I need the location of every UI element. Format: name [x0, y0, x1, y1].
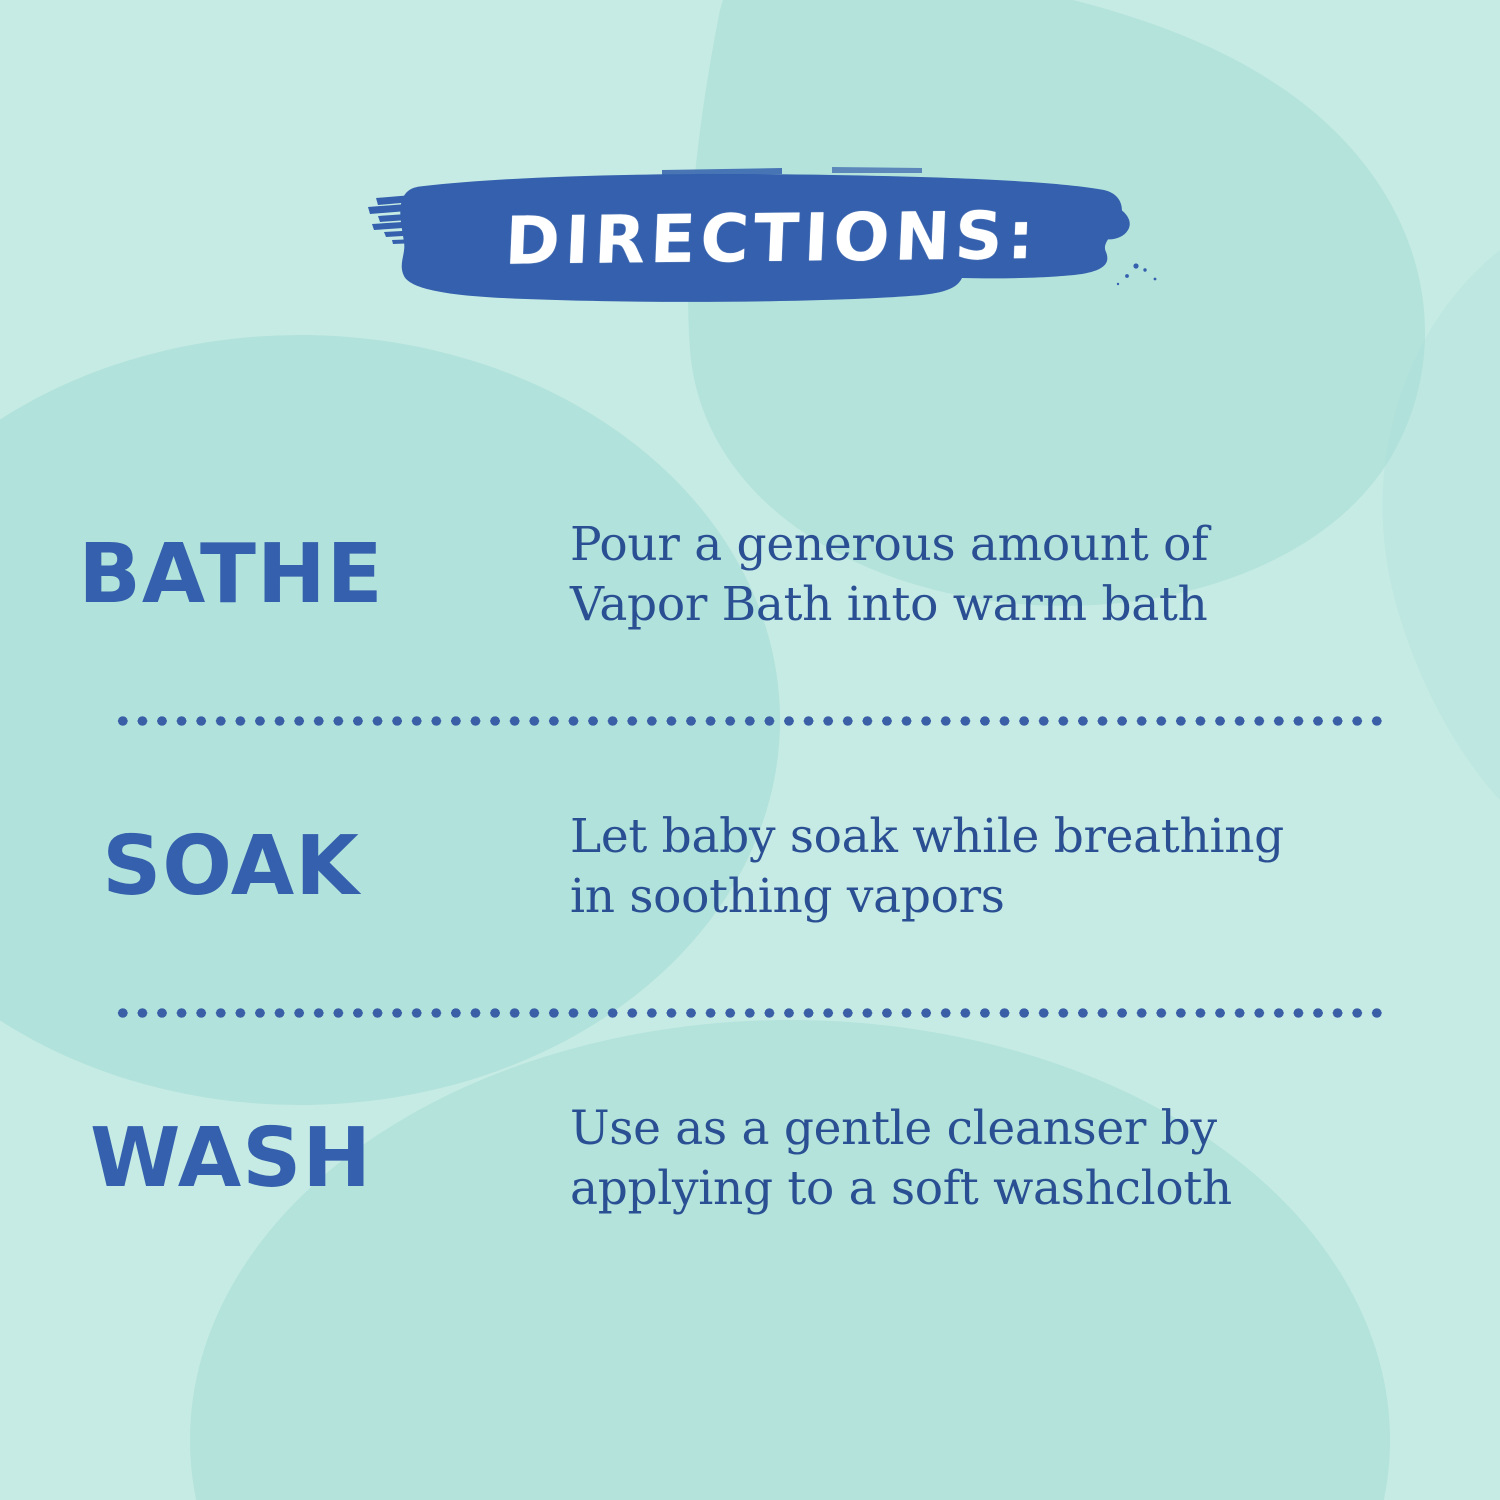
- step-description-line: Use as a gentle cleanser by: [570, 1099, 1430, 1159]
- step-description-line: Pour a generous amount of: [570, 515, 1430, 575]
- step-label-wash: WASH: [0, 1118, 470, 1200]
- step-row-soak: SOAK Let baby soak while breathing in so…: [0, 722, 1500, 1012]
- step-description-bathe: Pour a generous amount of Vapor Bath int…: [470, 515, 1500, 635]
- step-label-soak: SOAK: [0, 826, 470, 908]
- directions-infographic: DIRECTIONS: BATHE Pour a generous amount…: [0, 0, 1500, 1500]
- step-description-soak: Let baby soak while breathing in soothin…: [470, 807, 1500, 927]
- step-description-line: applying to a soft washcloth: [570, 1159, 1430, 1219]
- step-description-wash: Use as a gentle cleanser by applying to …: [470, 1099, 1500, 1219]
- step-description-line: Let baby soak while breathing: [570, 807, 1430, 867]
- step-description-line: Vapor Bath into warm bath: [570, 575, 1430, 635]
- header-banner: DIRECTIONS:: [362, 158, 1162, 318]
- page-title: DIRECTIONS:: [358, 154, 1165, 322]
- step-label-bathe: BATHE: [0, 534, 470, 616]
- step-row-bathe: BATHE Pour a generous amount of Vapor Ba…: [0, 430, 1500, 720]
- steps-list: BATHE Pour a generous amount of Vapor Ba…: [0, 430, 1500, 1304]
- step-description-line: in soothing vapors: [570, 867, 1430, 927]
- step-row-wash: WASH Use as a gentle cleanser by applyin…: [0, 1014, 1500, 1304]
